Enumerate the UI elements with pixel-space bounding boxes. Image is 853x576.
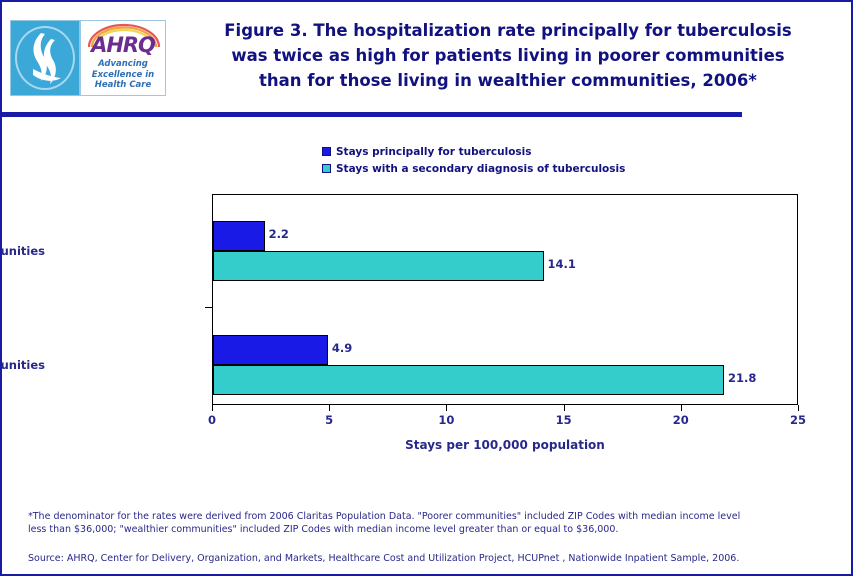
bar-value-wealthier-principal: 2.2 <box>269 229 289 241</box>
ahrq-tagline-line-2: Excellence in <box>81 70 165 81</box>
x-axis-tick-mark <box>212 405 213 411</box>
source-note: Source: AHRQ, Center for Delivery, Organ… <box>28 553 739 564</box>
ahrq-logo: AHRQ Advancing Excellence in Health Care <box>80 20 166 96</box>
x-axis-title: Stays per 100,000 population <box>212 438 798 452</box>
figure-title: Figure 3. The hospitalization rate princ… <box>178 18 838 93</box>
x-axis-tick-label: 10 <box>438 413 454 427</box>
hhs-eagle-glyph <box>11 21 80 96</box>
figure-title-line-1: Figure 3. The hospitalization rate princ… <box>178 18 838 43</box>
legend-label-principal: Stays principally for tuberculosis <box>336 146 532 158</box>
x-axis-tick-mark <box>446 405 447 411</box>
agency-logo-block: AHRQ Advancing Excellence in Health Care <box>10 20 168 96</box>
footnote-line-1: *The denominator for the rates were deri… <box>28 510 828 523</box>
x-axis-tick-label: 15 <box>556 413 572 427</box>
footnotes: *The denominator for the rates were deri… <box>28 510 828 536</box>
category-label-wealthier: Wealthier Communities <box>0 244 45 258</box>
y-axis-tick <box>205 307 212 308</box>
ahrq-tagline-line-1: Advancing <box>81 59 165 70</box>
bar-poorer-principal <box>213 335 328 365</box>
header-divider <box>2 112 742 117</box>
legend-swatch-principal <box>322 147 331 156</box>
bars-layer <box>213 195 797 404</box>
bar-wealthier-secondary <box>213 251 544 281</box>
bar-wealthier-principal <box>213 221 265 251</box>
plot-area <box>212 194 798 405</box>
bar-poorer-secondary <box>213 365 724 395</box>
hhs-seal-icon <box>10 20 80 96</box>
chart-legend: Stays principally for tuberculosis Stays… <box>322 143 625 177</box>
bar-value-wealthier-secondary: 14.1 <box>548 259 576 271</box>
figure-header: AHRQ Advancing Excellence in Health Care… <box>2 2 851 106</box>
bar-value-poorer-principal: 4.9 <box>332 343 352 355</box>
x-axis-tick-mark <box>329 405 330 411</box>
figure-title-line-2: was twice as high for patients living in… <box>178 43 838 68</box>
legend-item-secondary: Stays with a secondary diagnosis of tube… <box>322 160 625 177</box>
ahrq-tagline: Advancing Excellence in Health Care <box>81 59 165 91</box>
figure-container: AHRQ Advancing Excellence in Health Care… <box>0 0 853 576</box>
ahrq-tagline-line-3: Health Care <box>81 80 165 91</box>
x-axis-tick-mark <box>798 405 799 411</box>
ahrq-wordmark: AHRQ <box>81 35 165 56</box>
figure-title-line-3: than for those living in wealthier commu… <box>178 68 838 93</box>
footnote-line-2: less than $36,000; "wealthier communitie… <box>28 523 828 536</box>
legend-swatch-secondary <box>322 164 331 173</box>
bar-value-poorer-secondary: 21.8 <box>728 373 756 385</box>
x-axis-tick-mark <box>681 405 682 411</box>
x-axis-tick-label: 25 <box>790 413 806 427</box>
x-axis-tick-mark <box>564 405 565 411</box>
x-axis-tick-label: 5 <box>325 413 333 427</box>
legend-label-secondary: Stays with a secondary diagnosis of tube… <box>336 163 625 175</box>
x-axis-tick-label: 20 <box>673 413 689 427</box>
category-label-poorer: Poorer Communities <box>0 358 45 372</box>
x-axis-tick-label: 0 <box>208 413 216 427</box>
legend-item-principal: Stays principally for tuberculosis <box>322 143 625 160</box>
